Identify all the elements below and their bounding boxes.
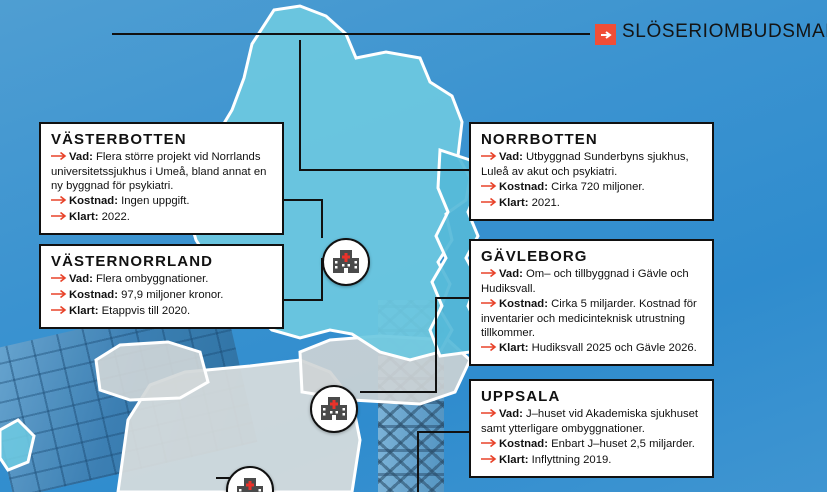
label-cost: Kostnad:	[499, 438, 548, 450]
region-done-row: Klart: 2021.	[481, 196, 702, 211]
arrow-right-icon	[51, 151, 67, 165]
marker-vasterbotten[interactable]	[322, 238, 370, 286]
region-done-text: Inflyttning 2019.	[532, 454, 612, 466]
region-done-text: 2022.	[102, 211, 130, 223]
region-cost-text: Enbart J–huset 2,5 miljarder.	[551, 438, 695, 450]
arrow-right-icon	[481, 151, 497, 165]
region-title: GÄVLEBORG	[481, 248, 702, 265]
connector-gavleborg	[360, 298, 470, 392]
hospital-icon	[321, 397, 347, 421]
region-cost-row: Kostnad: 97,9 miljoner kronor.	[51, 288, 272, 303]
connector-norrbotten	[300, 40, 470, 170]
region-done-row: Klart: Etappvis till 2020.	[51, 304, 272, 319]
region-cost-row: Kostnad: Enbart J–huset 2,5 miljarder.	[481, 437, 702, 452]
arrow-right-icon	[481, 454, 497, 468]
arrow-right-icon	[51, 195, 67, 209]
hospital-icon	[237, 478, 263, 492]
label-what: Vad:	[69, 151, 93, 163]
label-done: Klart:	[499, 197, 529, 209]
label-what: Vad:	[69, 273, 93, 285]
info-box-norrbotten: NORRBOTTEN Vad: Utbyggnad Sunderbyns sju…	[469, 122, 714, 221]
region-what-row: Vad: Om– och tillbyggnad i Gävle och Hud…	[481, 267, 702, 296]
arrow-right-icon	[481, 438, 497, 452]
info-box-vasternorrland: VÄSTERNORRLAND Vad: Flera ombyggnationer…	[39, 244, 284, 329]
arrow-right-icon	[481, 298, 497, 312]
hospital-icon	[333, 250, 359, 274]
arrow-right-icon	[481, 342, 497, 356]
region-what-row: Vad: Utbyggnad Sunderbyns sjukhus, Luleå…	[481, 150, 702, 179]
region-cost-row: Kostnad: Cirka 720 miljoner.	[481, 180, 702, 195]
info-box-vasterbotten: VÄSTERBOTTEN Vad: Flera större projekt v…	[39, 122, 284, 235]
label-done: Klart:	[499, 342, 529, 354]
region-title: NORRBOTTEN	[481, 131, 702, 148]
region-done-row: Klart: Inflyttning 2019.	[481, 453, 702, 468]
region-cost-text: Cirka 720 miljoner.	[551, 181, 645, 193]
arrow-right-icon	[51, 305, 67, 319]
info-box-gavleborg: GÄVLEBORG Vad: Om– och tillbyggnad i Gäv…	[469, 239, 714, 366]
arrow-right-icon	[481, 408, 497, 422]
region-what-row: Vad: J–huset vid Akademiska sjukhuset sa…	[481, 407, 702, 436]
arrow-right-icon	[51, 289, 67, 303]
region-done-row: Klart: 2022.	[51, 210, 272, 225]
region-cost-text: Ingen uppgift.	[121, 195, 189, 207]
label-cost: Kostnad:	[69, 195, 118, 207]
info-box-uppsala: UPPSALA Vad: J–huset vid Akademiska sjuk…	[469, 379, 714, 478]
region-cost-row: Kostnad: Cirka 5 miljarder. Kostnad för …	[481, 297, 702, 340]
label-cost: Kostnad:	[499, 181, 548, 193]
connector-vasterbotten	[284, 200, 322, 238]
label-what: Vad:	[499, 268, 523, 280]
region-done-text: Etappvis till 2020.	[102, 305, 191, 317]
label-done: Klart:	[69, 305, 99, 317]
marker-vasternorrland[interactable]	[310, 385, 358, 433]
region-cost-text: 97,9 miljoner kronor.	[121, 289, 223, 301]
region-what-text: Flera ombyggnationer.	[96, 273, 208, 285]
label-done: Klart:	[69, 211, 99, 223]
connector-vasternorrland	[284, 258, 322, 300]
arrow-right-icon	[481, 197, 497, 211]
region-done-text: 2021.	[532, 197, 560, 209]
region-what-row: Vad: Flera större projekt vid Norrlands …	[51, 150, 272, 193]
connector-uppsala	[418, 432, 470, 492]
arrow-right-icon	[51, 273, 67, 287]
region-done-text: Hudiksvall 2025 och Gävle 2026.	[532, 342, 697, 354]
region-title: VÄSTERNORRLAND	[51, 253, 272, 270]
brand-bar: SLÖSERIOMBUDSMANNEN	[0, 0, 827, 56]
label-done: Klart:	[499, 454, 529, 466]
infographic-root: SLÖSERIOMBUDSMANNEN	[0, 0, 827, 492]
label-what: Vad:	[499, 151, 523, 163]
brand-rule-line	[112, 33, 590, 35]
arrow-right-icon	[481, 181, 497, 195]
label-cost: Kostnad:	[499, 298, 548, 310]
region-what-row: Vad: Flera ombyggnationer.	[51, 272, 272, 287]
label-what: Vad:	[499, 408, 523, 420]
region-title: UPPSALA	[481, 388, 702, 405]
region-title: VÄSTERBOTTEN	[51, 131, 272, 148]
brand-title: SLÖSERIOMBUDSMANNEN	[622, 21, 827, 43]
arrow-right-icon	[481, 268, 497, 282]
region-cost-row: Kostnad: Ingen uppgift.	[51, 194, 272, 209]
arrow-right-icon	[51, 211, 67, 225]
label-cost: Kostnad:	[69, 289, 118, 301]
region-done-row: Klart: Hudiksvall 2025 och Gävle 2026.	[481, 341, 702, 356]
arrow-right-icon[interactable]	[595, 24, 616, 45]
